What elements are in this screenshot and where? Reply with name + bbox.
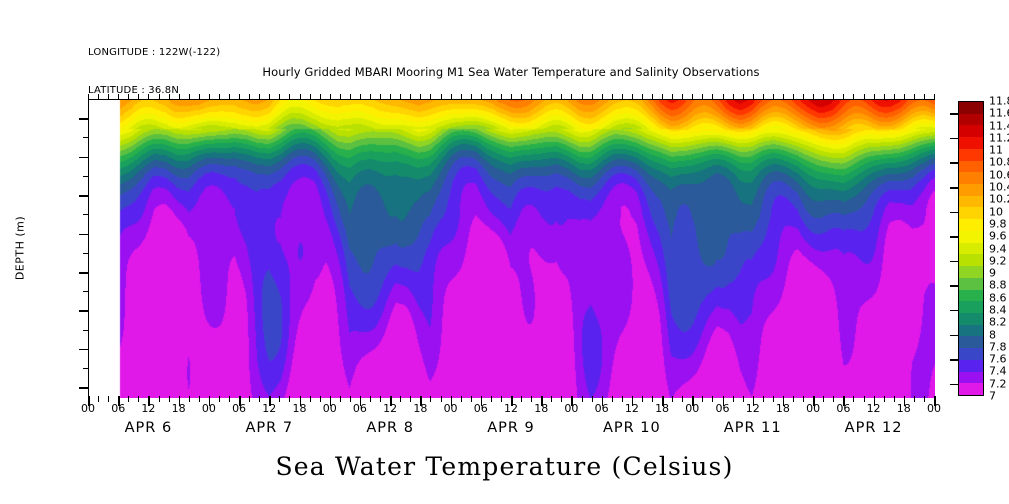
colorbar-label: 11.6: [989, 107, 1009, 120]
x-minor-tick-top: [410, 94, 411, 100]
x-minor-tick: [561, 396, 562, 402]
colorbar-tick: [950, 335, 958, 337]
y-minor-tick: [83, 176, 89, 177]
x-minor-tick-top: [833, 94, 834, 100]
x-minor-tick-top: [803, 94, 804, 100]
figure: LONGITUDE : 122W(-122) LATITUDE : 36.8N …: [0, 0, 1009, 504]
colorbar-band: [959, 243, 983, 255]
x-minor-tick-top: [320, 94, 321, 100]
x-minor-tick: [612, 396, 613, 402]
x-axis-day-label: APR 9: [487, 420, 535, 436]
x-axis-hour-label: 12: [383, 402, 397, 415]
x-minor-tick-top: [501, 94, 502, 100]
y-major-tick: [79, 234, 89, 236]
x-minor-tick-top: [602, 94, 603, 100]
x-axis-hour-label: 12: [141, 402, 155, 415]
colorbar-band: [959, 149, 983, 161]
x-minor-tick: [642, 396, 643, 402]
x-minor-tick: [169, 396, 170, 402]
x-axis-day-label: APR 8: [366, 420, 414, 436]
longitude-text: LONGITUDE : 122W(-122): [88, 47, 220, 60]
colorbar-label: 10.8: [989, 156, 1009, 169]
x-minor-tick: [461, 396, 462, 402]
x-minor-tick: [279, 396, 280, 402]
x-minor-tick-top: [138, 94, 139, 100]
x-minor-tick-top: [652, 94, 653, 100]
x-axis-hour-label: 12: [746, 402, 760, 415]
y-major-tick: [79, 310, 89, 312]
x-minor-tick: [914, 396, 915, 402]
x-minor-tick-top: [531, 94, 532, 100]
colorbar-tick: [950, 162, 958, 164]
colorbar-band: [959, 278, 983, 290]
x-axis-day-label: APR 10: [603, 420, 661, 436]
colorbar-band: [959, 254, 983, 266]
y-axis-title: DEPTH (m): [14, 216, 27, 280]
x-minor-tick-top: [481, 94, 482, 100]
x-minor-tick-top: [672, 94, 673, 100]
x-minor-tick-top: [461, 94, 462, 100]
x-minor-tick: [743, 396, 744, 402]
x-minor-tick: [531, 396, 532, 402]
x-minor-tick: [582, 396, 583, 402]
colorbar-label: 8.8: [989, 279, 1007, 292]
x-minor-tick: [249, 396, 250, 402]
colorbar-band: [959, 290, 983, 302]
colorbar-label: 8.6: [989, 291, 1007, 304]
x-minor-tick-top: [521, 94, 522, 100]
x-minor-tick-top: [723, 94, 724, 100]
x-axis-hour-label: 06: [474, 402, 488, 415]
x-axis-hour-label: 18: [172, 402, 186, 415]
figure-caption: Sea Water Temperature (Celsius): [0, 452, 1009, 481]
x-minor-tick-top: [712, 94, 713, 100]
x-minor-tick: [441, 396, 442, 402]
x-axis-hour-label: 18: [897, 402, 911, 415]
x-minor-tick-top: [582, 94, 583, 100]
y-minor-tick: [83, 330, 89, 331]
x-axis-hour-label: 06: [716, 402, 730, 415]
x-axis-hour-label: 18: [534, 402, 548, 415]
colorbar-tick: [950, 359, 958, 361]
x-minor-tick: [652, 396, 653, 402]
x-minor-tick-top: [239, 94, 240, 100]
x-minor-tick-top: [612, 94, 613, 100]
colorbar-band: [959, 383, 983, 395]
x-axis-day-label: APR 12: [845, 420, 903, 436]
colorbar-band: [959, 372, 983, 384]
y-major-tick: [79, 118, 89, 120]
x-axis-hour-label: 00: [202, 402, 216, 415]
x-minor-tick-top: [451, 94, 452, 100]
x-minor-tick-top: [118, 94, 119, 100]
x-minor-tick: [924, 396, 925, 402]
x-minor-tick: [400, 396, 401, 402]
x-minor-tick: [138, 396, 139, 402]
x-minor-tick-top: [642, 94, 643, 100]
y-minor-tick: [83, 368, 89, 369]
colorbar-band: [959, 125, 983, 137]
x-minor-tick-top: [843, 94, 844, 100]
colorbar-band: [959, 207, 983, 219]
x-minor-tick-top: [491, 94, 492, 100]
colorbar-tick: [950, 285, 958, 287]
colorbar-tick: [950, 236, 958, 238]
colorbar: [958, 101, 984, 396]
x-minor-tick-top: [894, 94, 895, 100]
y-minor-tick: [83, 253, 89, 254]
x-minor-tick: [219, 396, 220, 402]
x-minor-tick-top: [924, 94, 925, 100]
x-minor-tick: [793, 396, 794, 402]
colorbar-label: 7.2: [989, 377, 1007, 390]
colorbar-band: [959, 219, 983, 231]
x-minor-tick-top: [813, 94, 814, 100]
x-minor-tick-top: [279, 94, 280, 100]
x-axis-hour-label: 12: [625, 402, 639, 415]
x-minor-tick-top: [773, 94, 774, 100]
x-minor-tick-top: [511, 94, 512, 100]
x-minor-tick: [894, 396, 895, 402]
colorbar-tick: [950, 187, 958, 189]
colorbar-band: [959, 114, 983, 126]
temperature-heatmap: [89, 100, 935, 398]
x-minor-tick: [259, 396, 260, 402]
x-axis-hour-label: 06: [353, 402, 367, 415]
x-minor-tick-top: [632, 94, 633, 100]
x-minor-tick-top: [823, 94, 824, 100]
y-major-tick: [79, 272, 89, 274]
x-minor-tick: [340, 396, 341, 402]
x-axis-hour-label: 18: [413, 402, 427, 415]
colorbar-label: 9.6: [989, 230, 1007, 243]
colorbar-label: 11.8: [989, 95, 1009, 108]
colorbar-tick: [950, 261, 958, 263]
colorbar-label: 7.4: [989, 365, 1007, 378]
colorbar-band: [959, 360, 983, 372]
x-minor-tick: [108, 396, 109, 402]
x-axis-hour-label: 12: [262, 402, 276, 415]
x-minor-tick: [763, 396, 764, 402]
x-minor-tick-top: [662, 94, 663, 100]
x-minor-tick: [682, 396, 683, 402]
colorbar-band: [959, 161, 983, 173]
x-minor-tick-top: [259, 94, 260, 100]
x-minor-tick-top: [874, 94, 875, 100]
colorbar-label: 10.4: [989, 181, 1009, 194]
x-minor-tick: [672, 396, 673, 402]
colorbar-band: [959, 231, 983, 243]
x-minor-tick-top: [763, 94, 764, 100]
y-major-tick: [79, 349, 89, 351]
y-major-tick: [79, 387, 89, 389]
y-minor-tick: [83, 291, 89, 292]
x-minor-tick-top: [98, 94, 99, 100]
x-minor-tick-top: [853, 94, 854, 100]
x-axis-hour-label: 00: [81, 402, 95, 415]
x-minor-tick: [289, 396, 290, 402]
colorbar-band: [959, 301, 983, 313]
x-axis-hour-label: 00: [685, 402, 699, 415]
x-minor-tick: [773, 396, 774, 402]
colorbar-tick: [950, 138, 958, 140]
x-minor-tick-top: [441, 94, 442, 100]
x-axis-hour-label: 18: [776, 402, 790, 415]
x-minor-tick-top: [733, 94, 734, 100]
x-axis-hour-label: 00: [806, 402, 820, 415]
x-minor-tick-top: [360, 94, 361, 100]
x-minor-tick-top: [692, 94, 693, 100]
x-minor-tick: [712, 396, 713, 402]
colorbar-tick: [950, 212, 958, 214]
x-minor-tick: [229, 396, 230, 402]
x-minor-tick-top: [914, 94, 915, 100]
x-minor-tick: [551, 396, 552, 402]
x-minor-tick-top: [159, 94, 160, 100]
x-minor-tick: [320, 396, 321, 402]
x-minor-tick-top: [169, 94, 170, 100]
colorbar-label: 9.4: [989, 242, 1007, 255]
x-minor-tick-top: [561, 94, 562, 100]
colorbar-band: [959, 172, 983, 184]
colorbar-label: 7: [989, 390, 996, 403]
x-minor-tick-top: [904, 94, 905, 100]
x-minor-tick-top: [189, 94, 190, 100]
x-minor-tick-top: [622, 94, 623, 100]
x-minor-tick: [501, 396, 502, 402]
x-axis-hour-label: 12: [867, 402, 881, 415]
x-axis-hour-label: 00: [323, 402, 337, 415]
x-minor-tick: [128, 396, 129, 402]
colorbar-tick: [950, 310, 958, 312]
x-minor-tick: [622, 396, 623, 402]
plot-title: Hourly Gridded MBARI Mooring M1 Sea Wate…: [88, 65, 934, 79]
x-minor-tick: [350, 396, 351, 402]
x-minor-tick: [98, 396, 99, 402]
colorbar-label: 9: [989, 267, 996, 280]
x-minor-tick-top: [702, 94, 703, 100]
colorbar-label: 9.8: [989, 217, 1007, 230]
colorbar-label: 10.6: [989, 168, 1009, 181]
y-major-tick: [79, 195, 89, 197]
x-minor-tick-top: [390, 94, 391, 100]
x-minor-tick: [380, 396, 381, 402]
x-axis-hour-label: 06: [111, 402, 125, 415]
x-minor-tick-top: [541, 94, 542, 100]
y-minor-tick: [83, 214, 89, 215]
colorbar-label: 10: [989, 205, 1003, 218]
x-minor-tick-top: [249, 94, 250, 100]
colorbar-band: [959, 313, 983, 325]
x-minor-tick-top: [370, 94, 371, 100]
x-minor-tick-top: [209, 94, 210, 100]
y-major-tick: [79, 157, 89, 159]
x-axis-hour-label: 06: [595, 402, 609, 415]
x-axis-hour-label: 06: [836, 402, 850, 415]
colorbar-label: 8: [989, 328, 996, 341]
x-minor-tick: [410, 396, 411, 402]
colorbar-band: [959, 325, 983, 337]
x-minor-tick-top: [420, 94, 421, 100]
x-minor-tick-top: [219, 94, 220, 100]
x-minor-tick-top: [350, 94, 351, 100]
x-minor-tick-top: [179, 94, 180, 100]
x-minor-tick: [702, 396, 703, 402]
x-minor-tick: [471, 396, 472, 402]
x-minor-tick-top: [471, 94, 472, 100]
colorbar-band: [959, 348, 983, 360]
x-axis-hour-label: 06: [232, 402, 246, 415]
colorbar-label: 7.8: [989, 340, 1007, 353]
x-minor-tick: [310, 396, 311, 402]
colorbar-band: [959, 102, 983, 114]
x-minor-tick: [491, 396, 492, 402]
x-minor-tick-top: [743, 94, 744, 100]
x-minor-tick: [833, 396, 834, 402]
x-minor-tick-top: [269, 94, 270, 100]
colorbar-band: [959, 336, 983, 348]
x-minor-tick-top: [199, 94, 200, 100]
x-minor-tick-top: [783, 94, 784, 100]
x-minor-tick-top: [934, 94, 935, 100]
x-minor-tick-top: [128, 94, 129, 100]
x-axis-day-label: APR 7: [245, 420, 293, 436]
colorbar-label: 11.2: [989, 131, 1009, 144]
colorbar-label: 8.2: [989, 316, 1007, 329]
x-axis-day-label: APR 11: [724, 420, 782, 436]
x-minor-tick-top: [753, 94, 754, 100]
x-axis-hour-label: 00: [927, 402, 941, 415]
x-minor-tick-top: [340, 94, 341, 100]
x-minor-tick-top: [148, 94, 149, 100]
plot-area: [88, 99, 934, 397]
x-minor-tick-top: [592, 94, 593, 100]
y-minor-tick: [83, 137, 89, 138]
x-axis-day-label: APR 6: [125, 420, 173, 436]
x-axis-hour-label: 00: [444, 402, 458, 415]
x-minor-tick: [370, 396, 371, 402]
x-minor-tick-top: [793, 94, 794, 100]
x-minor-tick-top: [551, 94, 552, 100]
colorbar-band: [959, 137, 983, 149]
x-minor-tick: [592, 396, 593, 402]
colorbar-label: 7.6: [989, 353, 1007, 366]
x-minor-tick: [823, 396, 824, 402]
colorbar-tick: [950, 113, 958, 115]
x-minor-tick: [159, 396, 160, 402]
x-minor-tick-top: [864, 94, 865, 100]
x-minor-tick-top: [380, 94, 381, 100]
x-minor-tick: [803, 396, 804, 402]
colorbar-band: [959, 196, 983, 208]
x-minor-tick-top: [88, 94, 89, 100]
x-minor-tick-top: [229, 94, 230, 100]
colorbar-band: [959, 184, 983, 196]
x-minor-tick-top: [571, 94, 572, 100]
colorbar-label: 11: [989, 144, 1003, 157]
x-minor-tick-top: [310, 94, 311, 100]
x-minor-tick: [430, 396, 431, 402]
x-minor-tick: [884, 396, 885, 402]
x-minor-tick-top: [682, 94, 683, 100]
x-minor-tick-top: [300, 94, 301, 100]
x-minor-tick: [199, 396, 200, 402]
x-minor-tick-top: [884, 94, 885, 100]
colorbar-label: 9.2: [989, 254, 1007, 267]
x-axis-hour-label: 18: [655, 402, 669, 415]
x-minor-tick-top: [108, 94, 109, 100]
x-minor-tick: [864, 396, 865, 402]
x-minor-tick: [189, 396, 190, 402]
x-axis-hour-label: 00: [564, 402, 578, 415]
x-axis-hour-label: 18: [293, 402, 307, 415]
x-axis-hour-label: 12: [504, 402, 518, 415]
x-minor-tick-top: [330, 94, 331, 100]
x-minor-tick: [733, 396, 734, 402]
x-minor-tick-top: [400, 94, 401, 100]
colorbar-label: 11.4: [989, 119, 1009, 132]
colorbar-label: 8.4: [989, 303, 1007, 316]
colorbar-band: [959, 266, 983, 278]
x-minor-tick-top: [289, 94, 290, 100]
x-minor-tick: [853, 396, 854, 402]
colorbar-label: 10.2: [989, 193, 1009, 206]
colorbar-tick: [950, 384, 958, 386]
x-minor-tick-top: [430, 94, 431, 100]
x-minor-tick: [521, 396, 522, 402]
